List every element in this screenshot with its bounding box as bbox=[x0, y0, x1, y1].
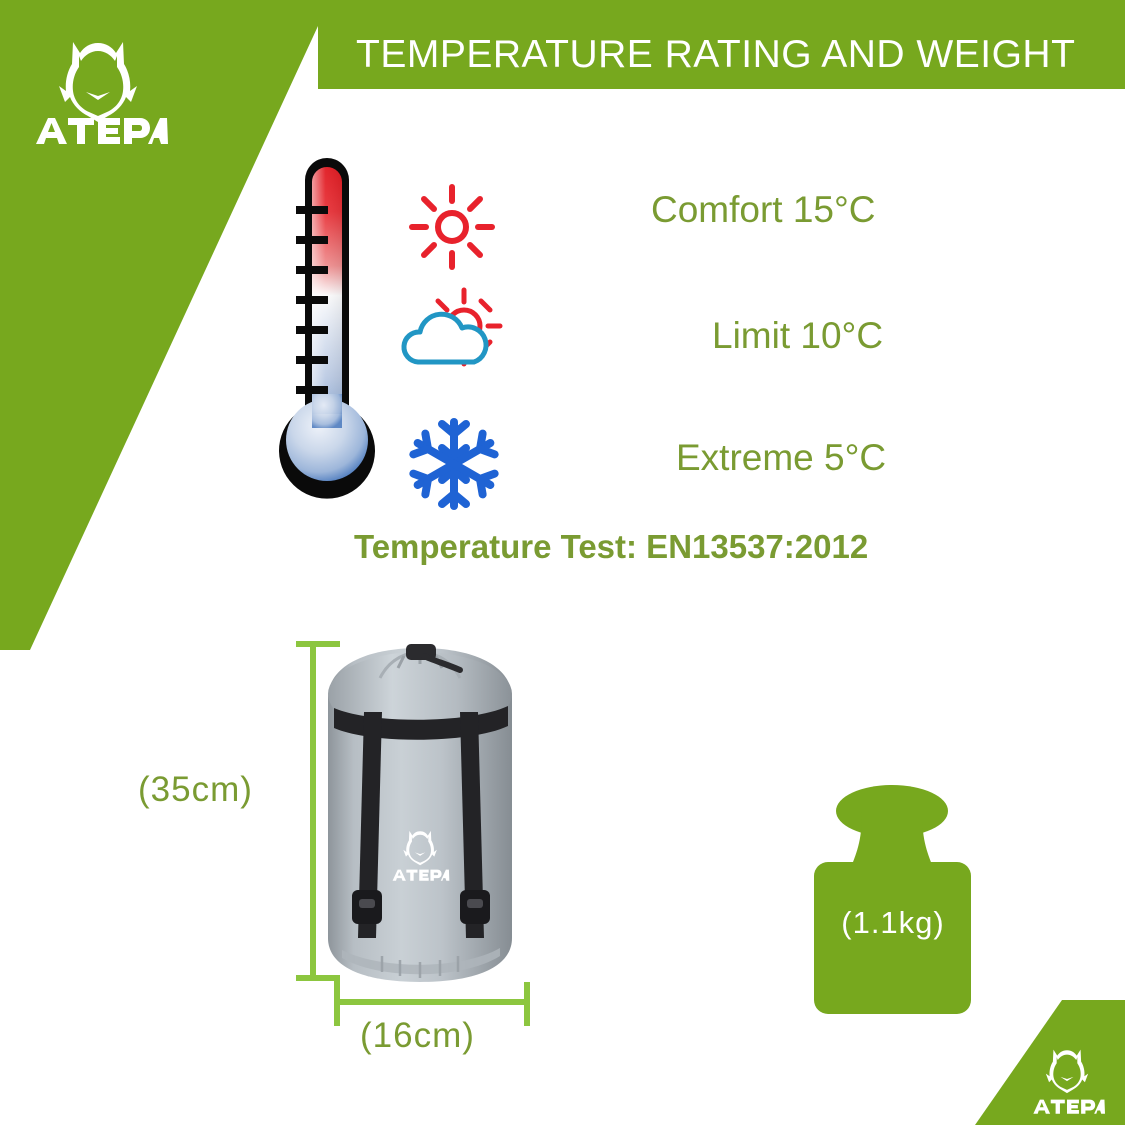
infographic-canvas: TEMPERATURE RATING AND WEIGHT bbox=[0, 0, 1125, 1125]
temperature-test-standard: Temperature Test: EN13537:2012 bbox=[354, 528, 868, 566]
weight-kettlebell-icon bbox=[800, 782, 985, 1022]
snowflake-icon bbox=[404, 414, 504, 514]
brand-wordmark bbox=[36, 118, 168, 144]
thermometer-icon bbox=[262, 158, 392, 508]
brand-wordmark bbox=[1033, 1100, 1105, 1114]
rating-label-extreme: Extreme 5°C bbox=[676, 436, 886, 480]
dimension-width-label: (16cm) bbox=[360, 1016, 475, 1056]
rating-label-comfort: Comfort 15°C bbox=[651, 188, 876, 232]
sun-behind-cloud-icon bbox=[396, 282, 511, 382]
compression-sack-photo bbox=[320, 638, 520, 986]
wolf-head-icon bbox=[59, 42, 137, 122]
weight-label: (1.1kg) bbox=[808, 905, 978, 941]
brand-logo-bottom-right bbox=[1023, 1041, 1111, 1117]
sun-icon bbox=[400, 182, 505, 272]
dimension-height-label: (35cm) bbox=[138, 770, 253, 810]
page-title: TEMPERATURE RATING AND WEIGHT bbox=[356, 29, 1116, 81]
wolf-head-icon bbox=[1046, 1050, 1088, 1093]
brand-logo-top-left bbox=[28, 26, 168, 148]
rating-label-limit: Limit 10°C bbox=[712, 314, 883, 358]
